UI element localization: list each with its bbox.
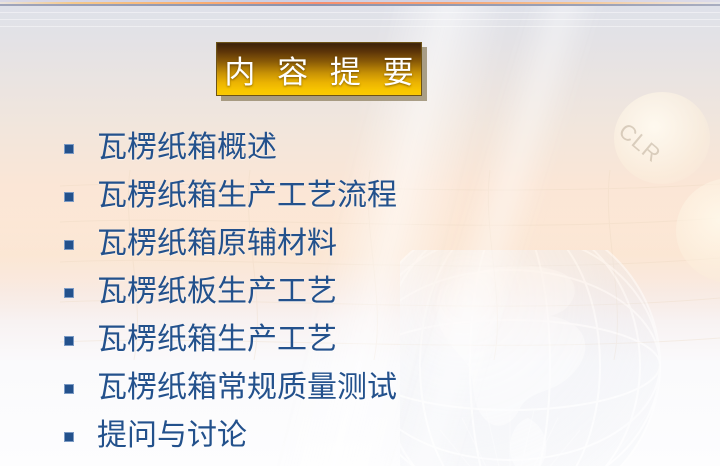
square-bullet-icon [64,336,74,346]
list-item-label: 瓦楞纸箱生产工艺 [97,323,337,357]
list-item-label: 瓦楞纸板生产工艺 [97,275,337,309]
list-item: 瓦楞纸箱原辅材料 [64,220,684,268]
list-item-label: 提问与讨论 [97,419,247,453]
list-item: 瓦楞纸箱生产工艺 [64,316,684,364]
top-accent-strip [0,0,720,6]
list-item-label: 瓦楞纸箱生产工艺流程 [97,179,397,213]
list-item: 瓦楞纸箱生产工艺流程 [64,172,684,220]
hairline-3 [0,26,720,27]
slide-bullet-list: 瓦楞纸箱概述 瓦楞纸箱生产工艺流程 瓦楞纸箱原辅材料 瓦楞纸板生产工艺 瓦楞纸箱… [64,124,684,460]
list-item: 瓦楞纸板生产工艺 [64,268,684,316]
square-bullet-icon [64,432,74,442]
list-item: 瓦楞纸箱常规质量测试 [64,364,684,412]
square-bullet-icon [64,240,74,250]
list-item: 瓦楞纸箱概述 [64,124,684,172]
slide-title: 内 容 提 要 [216,42,422,96]
strip-blue-band [0,4,720,6]
square-bullet-icon [64,384,74,394]
list-item-label: 瓦楞纸箱原辅材料 [97,227,337,261]
square-bullet-icon [64,192,74,202]
list-item: 提问与讨论 [64,412,684,460]
hairline-2 [0,19,720,20]
square-bullet-icon [64,288,74,298]
presentation-slide: CLR 内 容 提 要 瓦楞纸箱概述 瓦楞纸箱生产工艺流程 瓦楞纸箱原辅材料 [0,0,720,466]
list-item-label: 瓦楞纸箱概述 [97,131,277,165]
list-item-label: 瓦楞纸箱常规质量测试 [97,371,397,405]
square-bullet-icon [64,144,74,154]
hairline-1 [0,12,720,13]
slide-title-plaque: 内 容 提 要 [216,42,422,96]
